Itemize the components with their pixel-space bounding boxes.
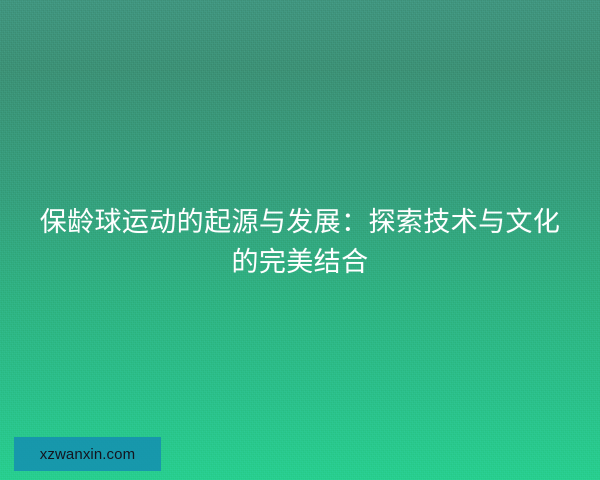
watermark-badge: xzwanxin.com (14, 437, 161, 471)
page-title: 保龄球运动的起源与发展：探索技术与文化的完美结合 (30, 202, 570, 282)
title-block: 保龄球运动的起源与发展：探索技术与文化的完美结合 (30, 202, 570, 282)
watermark-label: xzwanxin.com (40, 447, 135, 462)
poster-canvas: 保龄球运动的起源与发展：探索技术与文化的完美结合 xzwanxin.com (0, 0, 600, 480)
